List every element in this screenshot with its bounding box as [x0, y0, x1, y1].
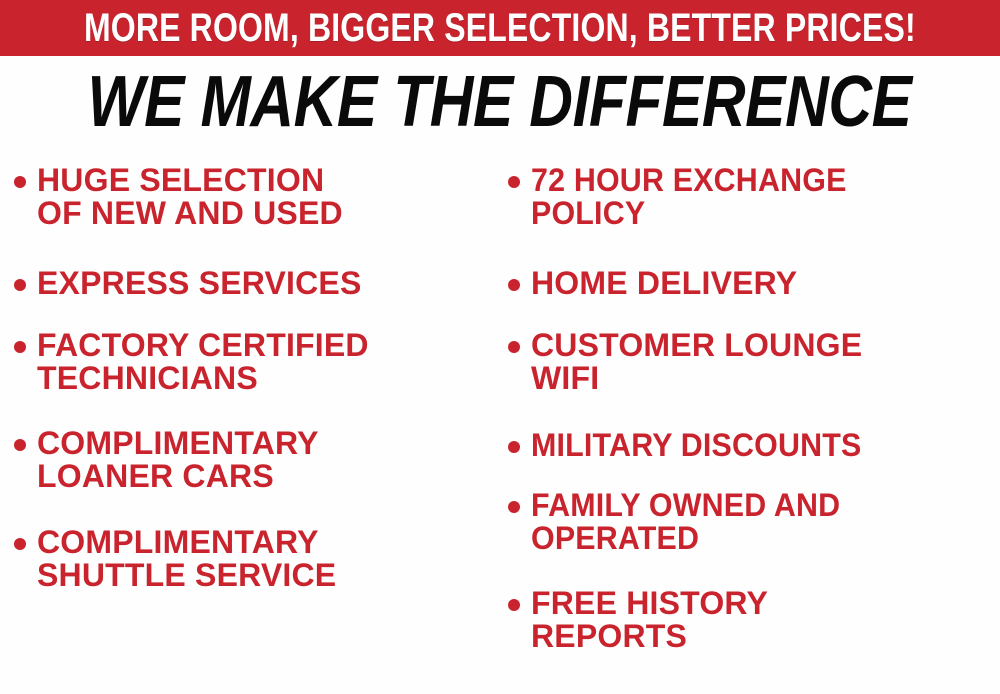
list-item: CUSTOMER LOUNGE WIFI — [508, 329, 862, 395]
list-item-label: FAMILY OWNED AND OPERATED — [531, 489, 840, 555]
bullet-dot-icon — [508, 341, 520, 353]
list-item: HUGE SELECTION OF NEW AND USED — [14, 164, 343, 230]
benefits-column-left: HUGE SELECTION OF NEW AND USED EXPRESS S… — [14, 156, 500, 694]
bullet-dot-icon — [508, 599, 520, 611]
list-item: MILITARY DISCOUNTS — [508, 429, 879, 462]
list-item: FREE HISTORY REPORTS — [508, 587, 768, 653]
bullet-dot-icon — [14, 439, 26, 451]
bullet-dot-icon — [508, 501, 520, 513]
list-item: HOME DELIVERY — [508, 267, 797, 300]
list-item-label: 72 HOUR EXCHANGE POLICY — [531, 164, 847, 230]
bullet-dot-icon — [508, 279, 520, 291]
advertisement-graphic: MORE ROOM, BIGGER SELECTION, BETTER PRIC… — [0, 0, 1000, 694]
list-item: 72 HOUR EXCHANGE POLICY — [508, 164, 863, 230]
bullet-dot-icon — [14, 176, 26, 188]
list-item-label: CUSTOMER LOUNGE WIFI — [531, 329, 862, 395]
bullet-dot-icon — [14, 279, 26, 291]
bullet-dot-icon — [508, 441, 520, 453]
list-item-label: HUGE SELECTION OF NEW AND USED — [37, 164, 343, 230]
top-banner: MORE ROOM, BIGGER SELECTION, BETTER PRIC… — [0, 0, 1000, 56]
list-item-label: FREE HISTORY REPORTS — [531, 587, 768, 653]
list-item: COMPLIMENTARY SHUTTLE SERVICE — [14, 526, 336, 592]
page-title: WE MAKE THE DIFFERENCE — [88, 66, 912, 138]
headline-container: WE MAKE THE DIFFERENCE — [0, 63, 1000, 141]
bullet-dot-icon — [14, 538, 26, 550]
list-item-label: COMPLIMENTARY SHUTTLE SERVICE — [37, 526, 336, 592]
benefits-column-right: 72 HOUR EXCHANGE POLICY HOME DELIVERY CU… — [508, 156, 1000, 694]
list-item: FAMILY OWNED AND OPERATED — [508, 489, 857, 555]
top-banner-text: MORE ROOM, BIGGER SELECTION, BETTER PRIC… — [84, 8, 916, 48]
benefits-columns: HUGE SELECTION OF NEW AND USED EXPRESS S… — [0, 156, 1000, 694]
list-item-label: COMPLIMENTARY LOANER CARS — [37, 427, 319, 493]
list-item-label: HOME DELIVERY — [531, 267, 797, 300]
bullet-dot-icon — [508, 176, 520, 188]
list-item: FACTORY CERTIFIED TECHNICIANS — [14, 329, 369, 395]
bullet-dot-icon — [14, 341, 26, 353]
list-item: COMPLIMENTARY LOANER CARS — [14, 427, 319, 493]
list-item-label: FACTORY CERTIFIED TECHNICIANS — [37, 329, 369, 395]
list-item-label: EXPRESS SERVICES — [37, 267, 362, 300]
list-item: EXPRESS SERVICES — [14, 267, 362, 300]
list-item-label: MILITARY DISCOUNTS — [531, 429, 862, 462]
